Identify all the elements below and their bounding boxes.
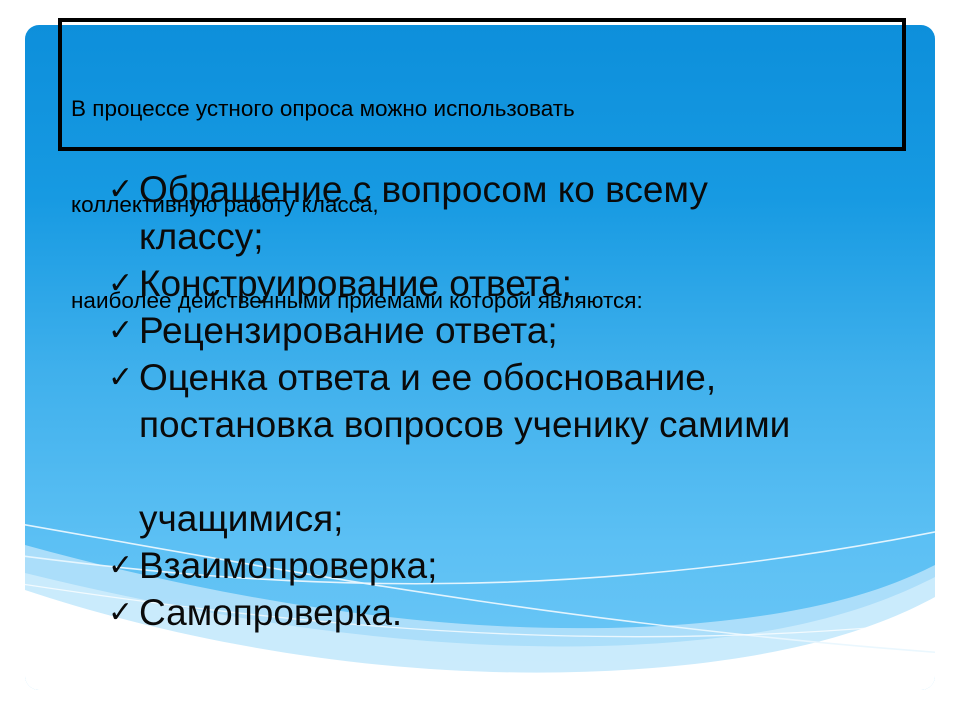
list-item-label: Самопроверка. [139, 589, 928, 636]
slide-canvas: В процессе устного опроса можно использо… [0, 0, 960, 720]
list-item-label: Взаимопроверка; [139, 542, 928, 589]
checkmark-icon: ✓ [108, 354, 139, 401]
list-item-label: Оценка ответа и ее обоснование, постанов… [139, 354, 928, 542]
list-item: ✓ Конструирование ответа; [108, 260, 928, 307]
checkmark-icon: ✓ [108, 166, 139, 213]
bullet-list: ✓ Обращение с вопросом ко всему классу; … [108, 166, 928, 636]
list-item-label: Конструирование ответа; [139, 260, 928, 307]
checkmark-icon: ✓ [108, 307, 139, 354]
list-item: ✓ Рецензирование ответа; [108, 307, 928, 354]
list-item: ✓ Обращение с вопросом ко всему классу; [108, 166, 928, 260]
list-item-label: Рецензирование ответа; [139, 307, 928, 354]
list-item: ✓ Взаимопроверка; [108, 542, 928, 589]
checkmark-icon: ✓ [108, 542, 139, 589]
list-item-label: Обращение с вопросом ко всему классу; [139, 166, 928, 260]
list-item: ✓ Оценка ответа и ее обоснование, постан… [108, 354, 928, 542]
title-box: В процессе устного опроса можно использо… [58, 18, 906, 151]
checkmark-icon: ✓ [108, 589, 139, 636]
title-line-1: В процессе устного опроса можно использо… [71, 93, 907, 125]
list-item: ✓ Самопроверка. [108, 589, 928, 636]
checkmark-icon: ✓ [108, 260, 139, 307]
